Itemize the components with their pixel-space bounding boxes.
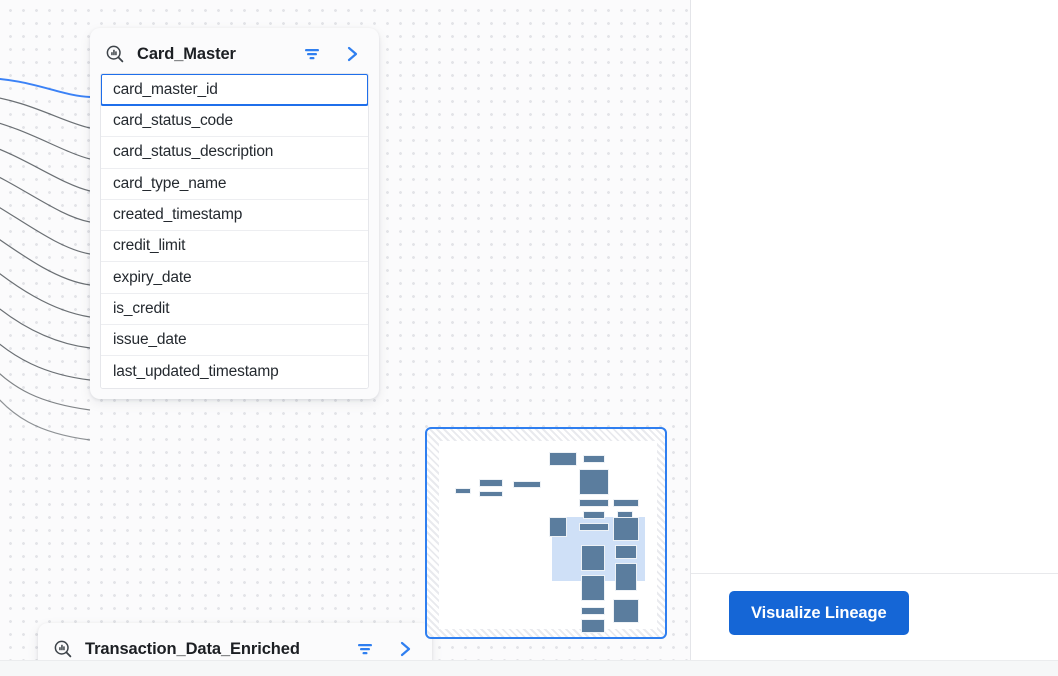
field-row[interactable]: card_type_name [101,169,368,200]
minimap-node [583,511,605,519]
minimap-node [479,491,503,497]
minimap-node [581,619,605,633]
node-header: Card_Master [100,35,369,73]
panel-divider [691,573,1058,574]
field-name: card_master_id [113,81,218,99]
field-row[interactable]: created_timestamp [101,200,368,231]
field-name: credit_limit [113,237,185,255]
field-name: card_status_code [113,112,233,130]
field-name: created_timestamp [113,206,242,224]
field-name: card_status_description [113,143,273,161]
minimap[interactable] [425,427,667,639]
field-list: card_master_id card_status_code card_sta… [100,73,369,389]
minimap-node [479,479,503,487]
search-data-profile-icon[interactable] [50,636,76,660]
chevron-right-icon[interactable] [392,636,418,660]
node-header: Transaction_Data_Enriched [48,630,422,660]
minimap-node [615,563,637,591]
field-row[interactable]: is_credit [101,294,368,325]
node-title: Card_Master [137,45,236,64]
field-row[interactable]: last_updated_timestamp [101,356,368,387]
field-name: expiry_date [113,269,191,287]
field-name: is_credit [113,300,169,318]
field-row[interactable]: issue_date [101,325,368,356]
field-row[interactable]: credit_limit [101,231,368,262]
minimap-node [581,545,605,571]
minimap-node [613,499,639,507]
minimap-node [579,469,609,495]
lineage-canvas[interactable]: Card_Master card_master_i [0,0,690,660]
minimap-inner[interactable] [439,441,657,629]
search-data-profile-icon[interactable] [102,41,128,67]
field-name: card_type_name [113,175,226,193]
minimap-node [549,517,567,537]
field-name: last_updated_timestamp [113,363,279,381]
minimap-node [579,523,609,531]
minimap-node [581,607,605,615]
minimap-node [615,545,637,559]
field-name: issue_date [113,331,186,349]
filter-icon[interactable] [299,41,325,67]
node-title: Transaction_Data_Enriched [85,640,300,659]
chevron-right-icon[interactable] [339,41,365,67]
minimap-node [581,575,605,601]
minimap-node [513,481,541,488]
field-row[interactable]: card_master_id [100,73,369,106]
node-transaction-data-enriched[interactable]: Transaction_Data_Enriched [38,623,432,660]
visualize-lineage-button[interactable]: Visualize Lineage [729,591,909,635]
field-row[interactable]: card_status_code [101,106,368,137]
field-row[interactable]: card_status_description [101,137,368,168]
lineage-explorer-screen: Card_Master card_master_i [0,0,1058,676]
minimap-node [613,599,639,623]
details-panel: Visualize Lineage [690,0,1058,660]
minimap-node [579,499,609,507]
node-card-master[interactable]: Card_Master card_master_i [90,28,379,399]
minimap-node [583,455,605,463]
bottom-status-strip [0,660,1058,676]
field-row[interactable]: expiry_date [101,262,368,293]
minimap-node [455,488,471,494]
filter-icon[interactable] [352,636,378,660]
minimap-node [549,452,577,466]
minimap-node [613,517,639,541]
